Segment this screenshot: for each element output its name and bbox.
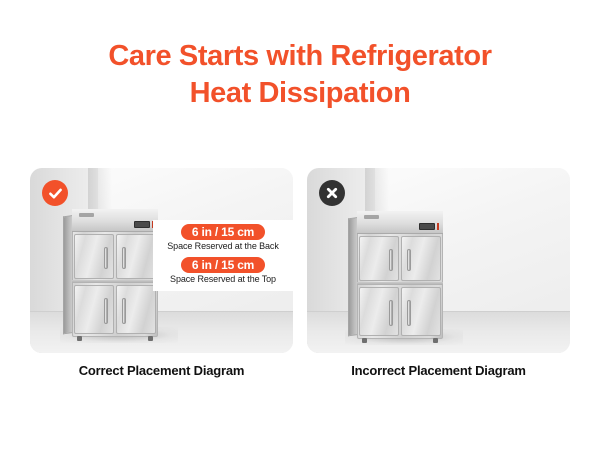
card-captions-row: Correct Placement Diagram Incorrect Plac… [30, 362, 570, 380]
refrigerator-mid-rail [357, 282, 443, 285]
door-handle-icon [407, 249, 411, 271]
page-title: Care Starts with Refrigerator Heat Dissi… [0, 38, 600, 112]
placement-cards-row: 6 in / 15 cm Space Reserved at the Back … [30, 168, 570, 353]
correct-placement-card[interactable]: 6 in / 15 cm Space Reserved at the Back … [30, 168, 293, 353]
annotation-back-clearance: 6 in / 15 cm Space Reserved at the Back [156, 224, 290, 253]
refrigerator-brand-plate [79, 213, 94, 217]
refrigerator-leg-right [433, 338, 438, 343]
back-clearance-value: 6 in / 15 cm [181, 224, 265, 240]
check-circle-icon [42, 180, 68, 206]
refrigerator-door-top-left [74, 234, 114, 279]
page-title-line-2: Heat Dissipation [0, 75, 600, 112]
refrigerator-illustration [357, 211, 443, 339]
incorrect-placement-caption: Incorrect Placement Diagram [307, 362, 570, 380]
cross-circle-icon [319, 180, 345, 206]
refrigerator-brand-plate [364, 215, 379, 219]
top-clearance-value: 6 in / 15 cm [181, 257, 265, 273]
refrigerator-door-top-right [401, 236, 441, 281]
incorrect-placement-card[interactable] [307, 168, 570, 353]
door-handle-icon [407, 300, 411, 326]
refrigerator-door-top-left [359, 236, 399, 281]
door-handle-icon [104, 298, 108, 324]
refrigerator-indicator-led [437, 223, 439, 230]
refrigerator-control-display [134, 221, 150, 228]
refrigerator-door-bottom-right [401, 287, 441, 336]
back-clearance-label: Space Reserved at the Back [156, 240, 290, 253]
door-handle-icon [389, 300, 393, 326]
door-handle-icon [122, 298, 126, 324]
refrigerator-mid-rail [72, 280, 158, 283]
door-handle-icon [122, 247, 126, 269]
top-clearance-label: Space Reserved at the Top [156, 273, 290, 286]
refrigerator-leg-left [77, 336, 82, 341]
door-handle-icon [104, 247, 108, 269]
spacing-annotations: 6 in / 15 cm Space Reserved at the Back … [153, 220, 293, 291]
refrigerator-leg-left [362, 338, 367, 343]
door-handle-icon [389, 249, 393, 271]
annotation-top-clearance: 6 in / 15 cm Space Reserved at the Top [156, 257, 290, 286]
page-title-line-1: Care Starts with Refrigerator [0, 38, 600, 75]
refrigerator-door-bottom-left [74, 285, 114, 334]
refrigerator-door-top-right [116, 234, 156, 279]
refrigerator-door-bottom-right [116, 285, 156, 334]
refrigerator-leg-right [148, 336, 153, 341]
refrigerator-door-bottom-left [359, 287, 399, 336]
incorrect-placement-photo [307, 168, 570, 353]
refrigerator-illustration [72, 209, 158, 337]
correct-placement-caption: Correct Placement Diagram [30, 362, 293, 380]
refrigerator-control-display [419, 223, 435, 230]
